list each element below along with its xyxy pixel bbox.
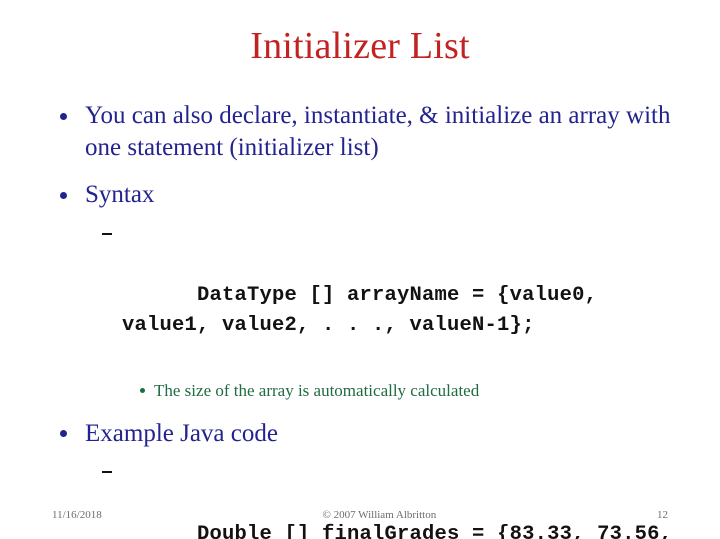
footer-page-number: 12: [657, 509, 668, 521]
note-item-level3: The size of the array is automatically c…: [137, 380, 692, 402]
bullet-text: Syntax: [85, 181, 154, 208]
spacer: [52, 371, 692, 380]
code-item-example: Double [] finalGrades = {83.33, 73.56, 9…: [100, 461, 692, 539]
page-title: Initializer List: [0, 26, 720, 68]
slide-body: You can also declare, instantiate, & ini…: [52, 100, 692, 539]
bullet-item-level1: Syntax: [52, 179, 692, 211]
spacer: [52, 452, 692, 461]
dash-bullet-icon: [102, 471, 112, 473]
code-text: Double [] finalGrades = {83.33, 73.56, 9…: [122, 523, 685, 539]
bullet-item-level1: You can also declare, instantiate, & ini…: [52, 100, 692, 164]
code-text: DataType [] arrayName = {value0, value1,…: [122, 284, 610, 337]
bullet-text: Example Java code: [85, 420, 278, 447]
spacer: [52, 213, 692, 222]
disc-bullet-icon: [60, 430, 67, 437]
footer-date: 11/16/2018: [52, 509, 102, 521]
bullet-text: You can also declare, instantiate, & ini…: [85, 102, 670, 161]
footer-copyright: © 2007 William Albritton: [102, 509, 657, 521]
dash-bullet-icon: [102, 233, 112, 235]
note-text: The size of the array is automatically c…: [154, 381, 479, 400]
slide-canvas: Initializer List You can also declare, i…: [0, 0, 720, 539]
code-item-syntax: DataType [] arrayName = {value0, value1,…: [100, 222, 692, 371]
disc-bullet-icon: [60, 113, 67, 120]
disc-bullet-icon: [60, 192, 67, 199]
disc-bullet-icon: [140, 388, 145, 393]
spacer: [52, 166, 692, 179]
spacer: [52, 402, 692, 418]
slide-footer: 11/16/2018 © 2007 William Albritton 12: [52, 509, 668, 521]
bullet-item-level1: Example Java code: [52, 418, 692, 450]
